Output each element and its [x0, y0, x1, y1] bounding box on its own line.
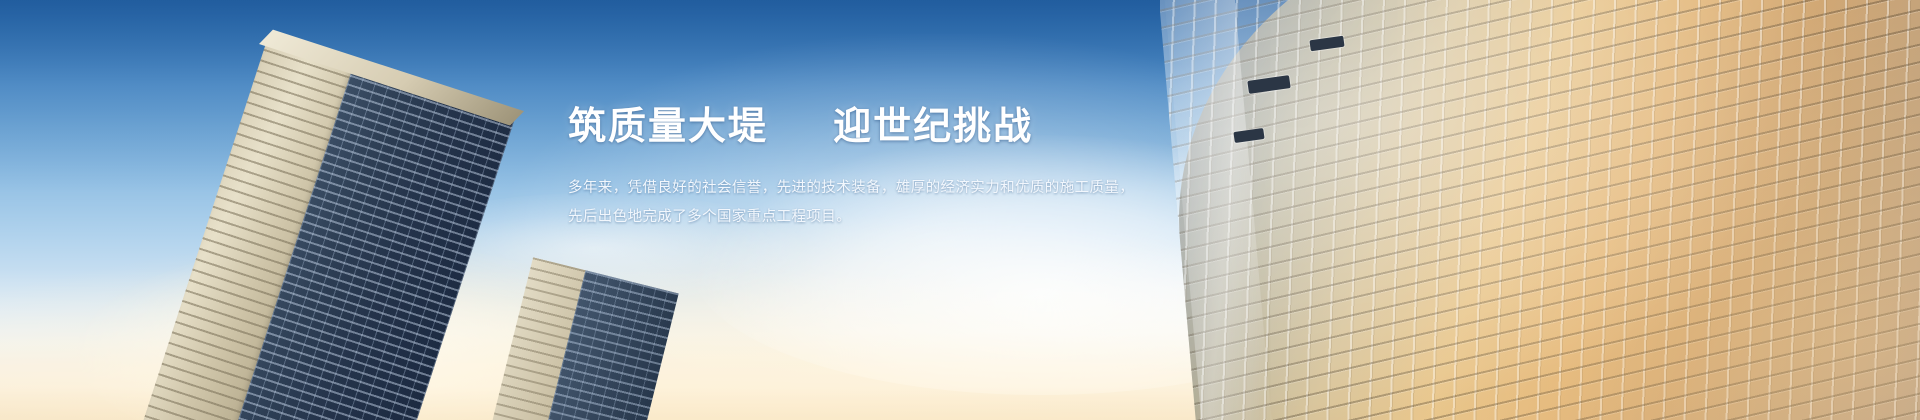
banner-subtitle-line-2: 先后出色地完成了多个国家重点工程项目。	[568, 203, 1128, 232]
banner-subtitle: 多年来，凭借良好的社会信誉，先进的技术装备，雄厚的经济实力和优质的施工质量， 先…	[568, 174, 1128, 232]
banner-headline: 筑质量大堤 迎世纪挑战	[568, 104, 1128, 152]
right-building-curved-facade	[1160, 0, 1920, 420]
right-building	[1160, 0, 1920, 420]
right-building-glass-sheen	[1160, 0, 1920, 420]
banner-subtitle-line-1: 多年来，凭借良好的社会信誉，先进的技术装备，雄厚的经济实力和优质的施工质量，	[568, 174, 1128, 203]
banner-copy: 筑质量大堤 迎世纪挑战 多年来，凭借良好的社会信誉，先进的技术装备，雄厚的经济实…	[568, 104, 1128, 232]
hero-banner: 筑质量大堤 迎世纪挑战 多年来，凭借良好的社会信誉，先进的技术装备，雄厚的经济实…	[0, 0, 1920, 420]
